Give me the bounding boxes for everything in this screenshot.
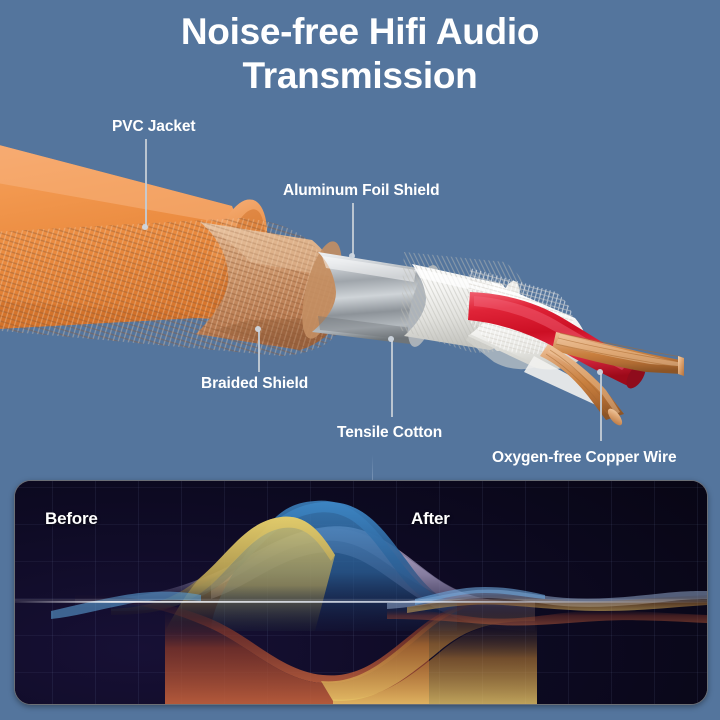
leader-line-pvc-jacket	[145, 139, 147, 227]
waveform-axis-line	[15, 601, 707, 603]
after-label: After	[411, 509, 450, 529]
cable-cutaway-illustration	[0, 0, 720, 480]
leader-dot-tensile-cotton	[388, 336, 394, 342]
leader-dot-aluminum-foil-shield	[349, 253, 355, 259]
callout-label-aluminum-foil-shield: Aluminum Foil Shield	[283, 182, 439, 200]
leader-line-braided-shield	[258, 330, 260, 372]
leader-dot-pvc-jacket	[142, 224, 148, 230]
leader-dot-oxygen-free-copper-wire	[597, 369, 603, 375]
leader-line-aluminum-foil-shield	[352, 203, 354, 257]
callout-label-braided-shield: Braided Shield	[201, 375, 308, 393]
infographic-canvas: Noise-free Hifi Audio Transmission	[0, 0, 720, 720]
before-after-comparison-panel: Before After	[14, 480, 708, 705]
waveform-chart	[15, 481, 707, 704]
leader-dot-braided-shield	[255, 326, 261, 332]
before-label: Before	[45, 509, 98, 529]
leader-line-oxygen-free-copper-wire	[600, 373, 602, 441]
leader-line-tensile-cotton	[391, 341, 393, 417]
callout-label-oxygen-free-copper-wire: Oxygen-free Copper Wire	[492, 449, 676, 467]
callout-label-pvc-jacket: PVC Jacket	[112, 118, 195, 136]
callout-label-tensile-cotton: Tensile Cotton	[337, 424, 442, 442]
